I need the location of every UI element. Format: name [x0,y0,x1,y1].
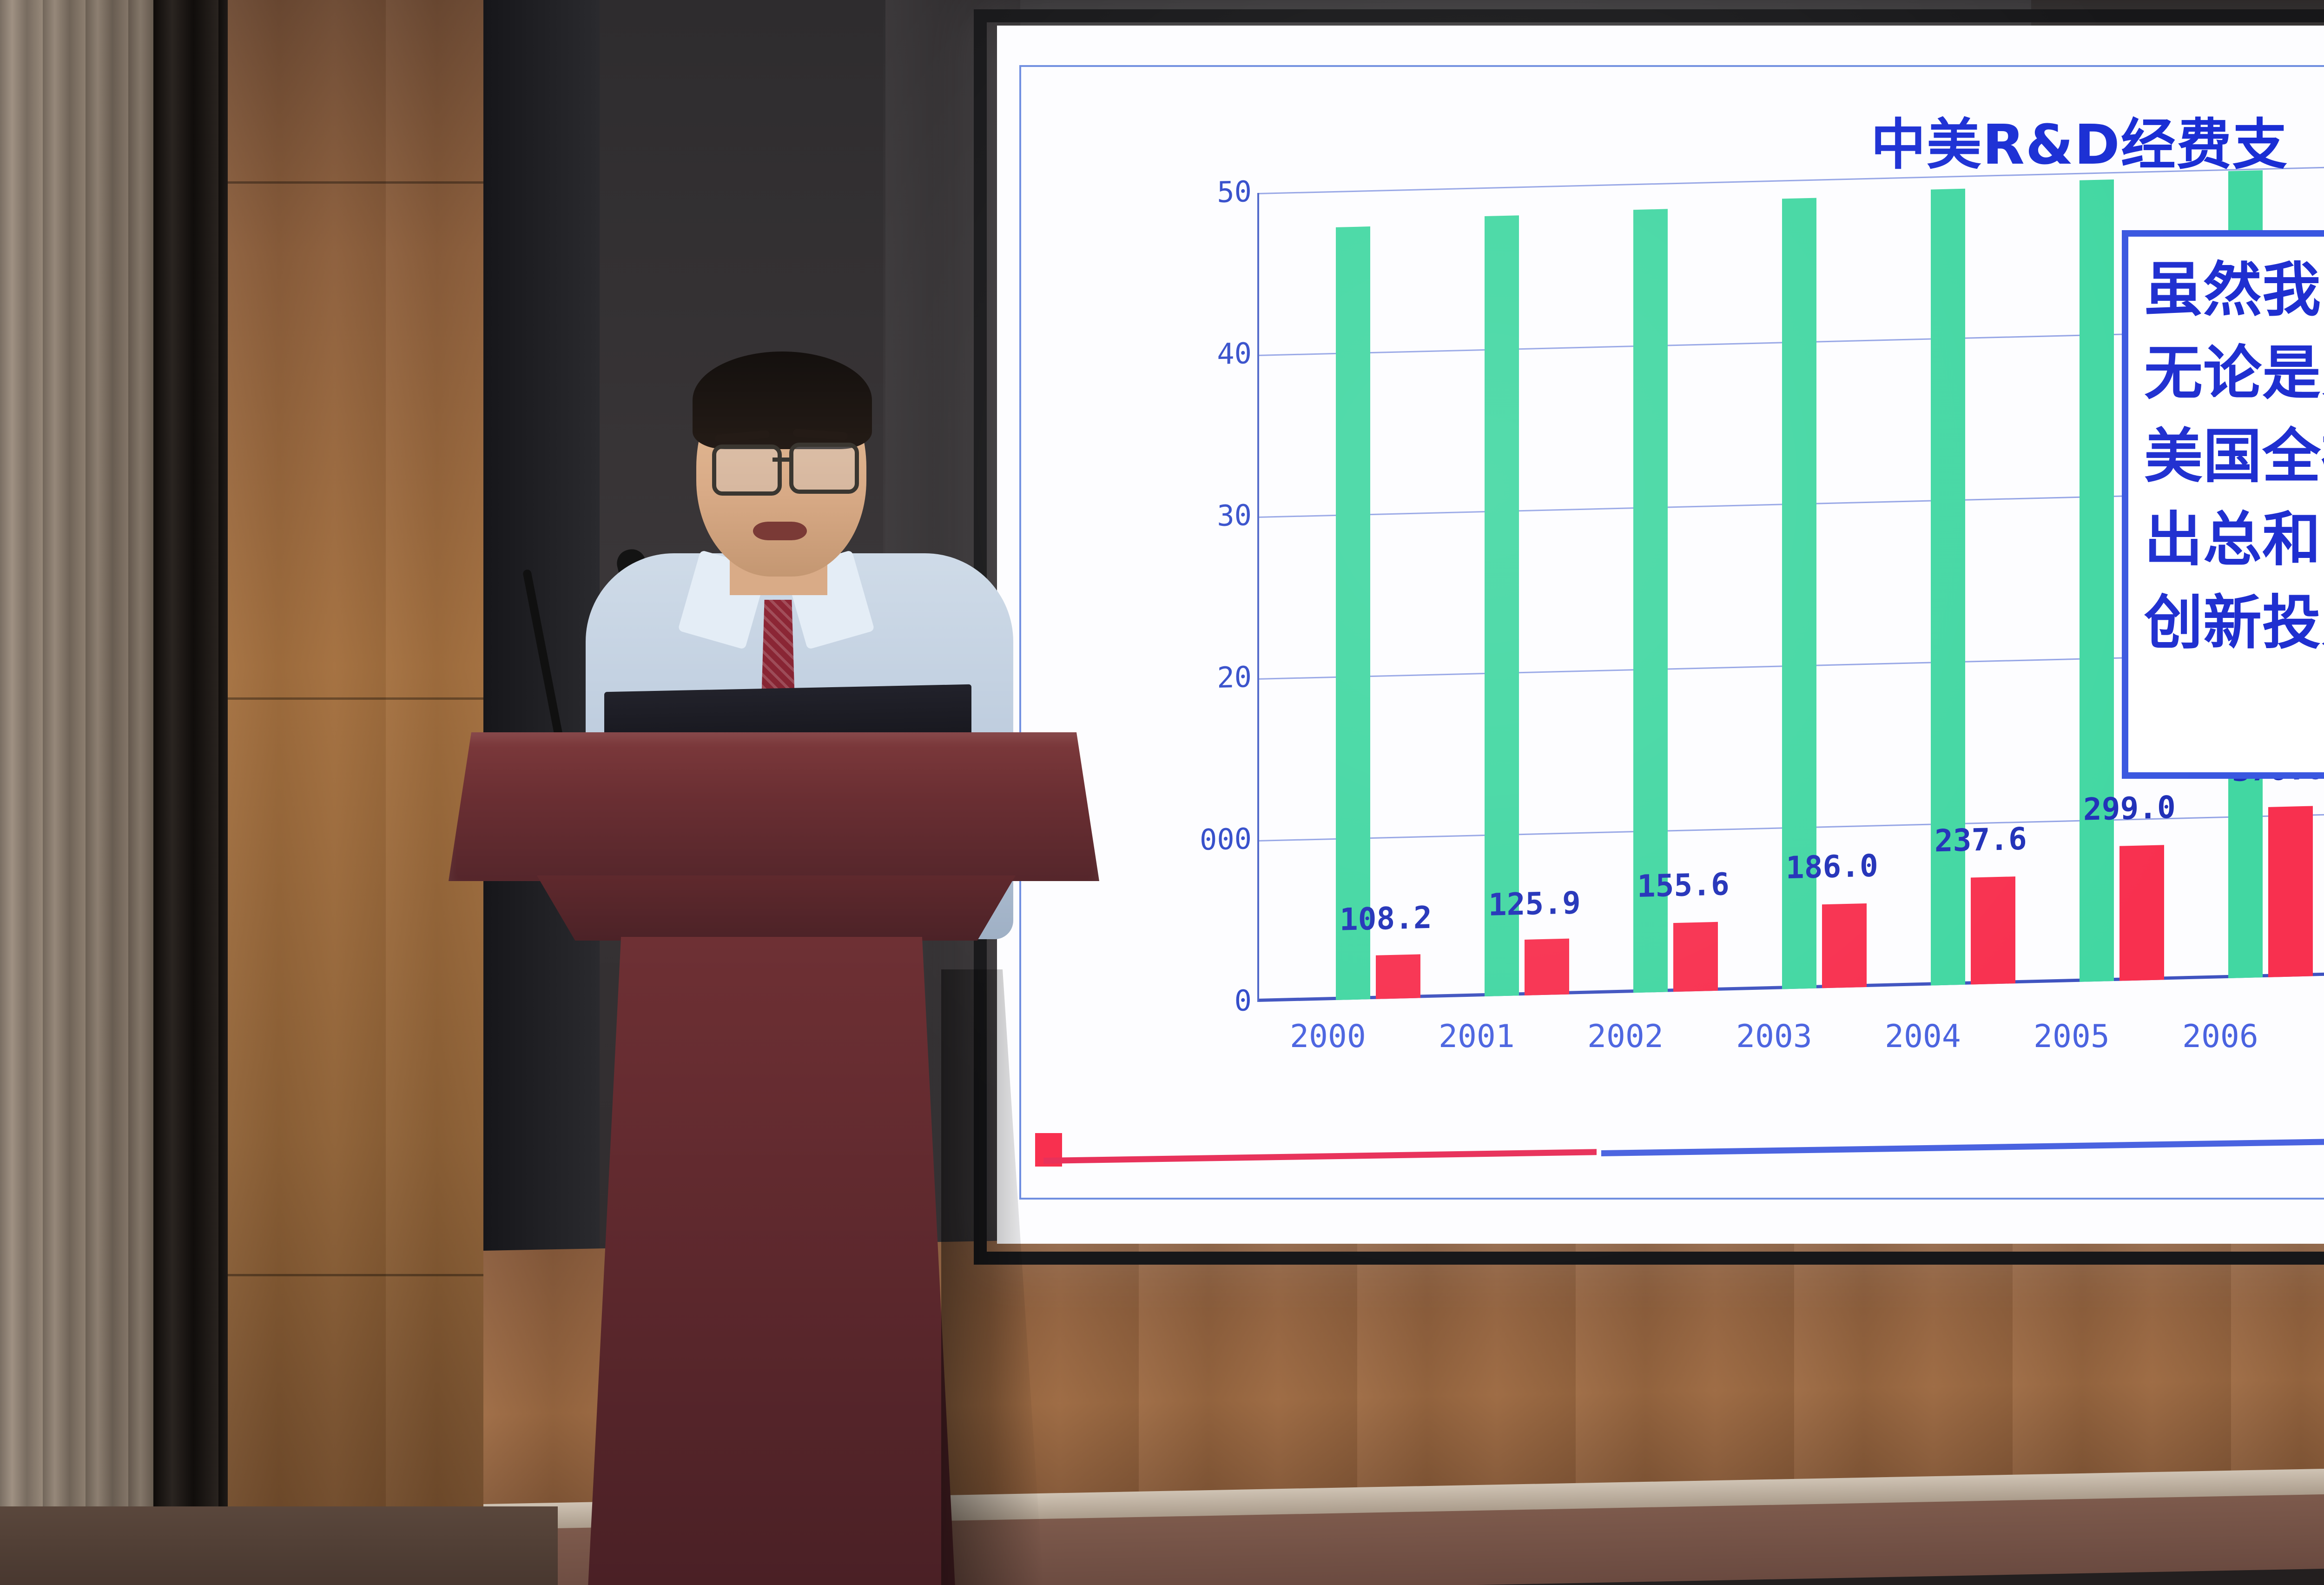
glasses-lens-right [789,443,859,494]
glasses-lens-left [712,444,782,496]
podium-shadow [941,969,1043,1585]
screenshot-root: 50 40 30 20 000 0 108.2 125.9 [0,0,2324,1585]
podium [449,728,1127,1585]
presenter-mouth [753,522,807,540]
podium-column [588,937,955,1585]
podium-top-surface [449,732,1099,881]
glasses-bridge [772,458,792,462]
screen-bezel [974,9,2324,1265]
podium-neck [537,875,1016,941]
